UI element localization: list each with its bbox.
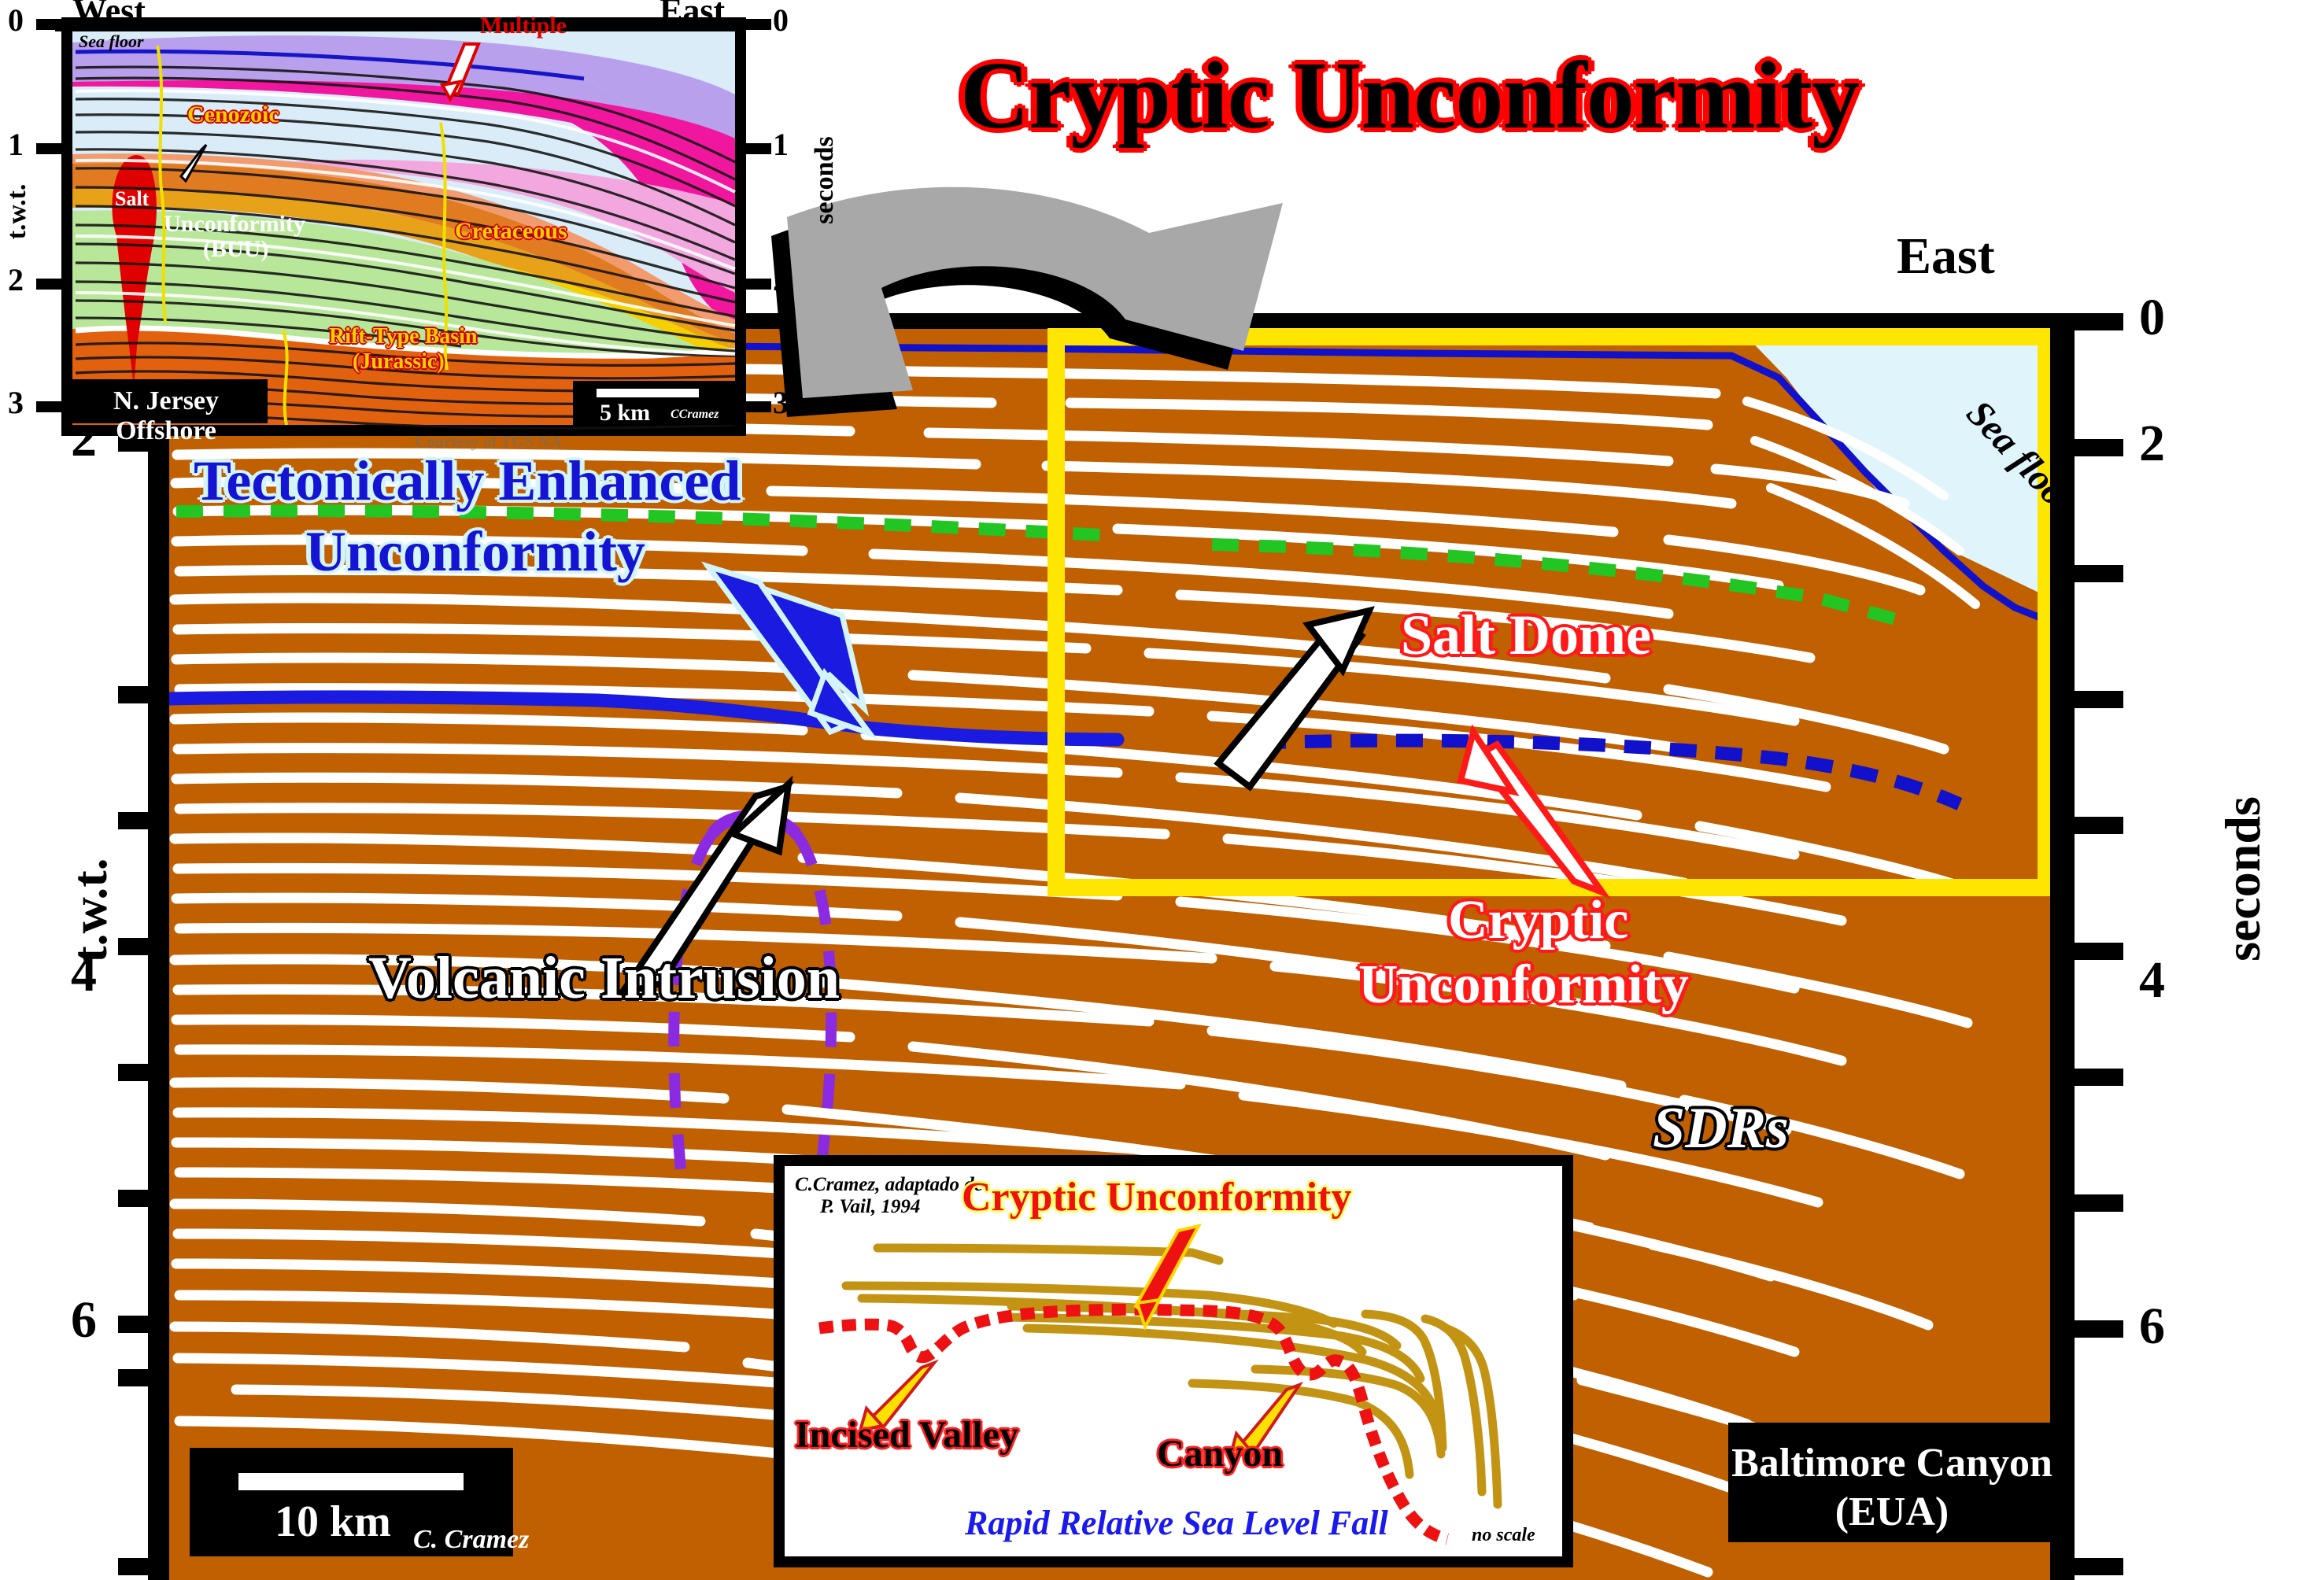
inset-diagram-caption: Rapid Relative Sea Level Fall	[965, 1503, 1388, 1543]
inset-east-label: East	[660, 0, 725, 31]
inset-scale-bar-value: 5 km	[600, 400, 650, 426]
inset-left-tick-1: 1	[8, 126, 24, 163]
inset-left-tick-3: 3	[8, 384, 24, 421]
inset-diagram-scale-note: no scale	[1472, 1525, 1535, 1546]
page-title: Cryptic Unconformity	[960, 41, 1859, 151]
label-cryptic-unconformity-line2: Unconformity	[1358, 954, 1689, 1017]
inset-right-tick-0: 0	[773, 2, 789, 39]
inset-scale-bar: 5 km CCramez	[573, 381, 738, 425]
inset-left-tick-2: 2	[8, 261, 24, 298]
main-right-tick-2: 2	[2139, 414, 2165, 474]
inset-label-rift-basin-line1: Rift-Type Basin	[329, 324, 478, 349]
main-east-label: East	[1897, 227, 1995, 286]
inset-scale-bar-credit: CCramez	[671, 408, 719, 422]
scale-bar-credit: C. Cramez	[413, 1525, 529, 1555]
inset-label-cenozoic: Cenozoic	[187, 102, 279, 128]
inset-diagram-credit-line2: P. Vail, 1994	[820, 1196, 920, 1218]
inset-diagram-title: Cryptic Unconformity	[962, 1174, 1351, 1220]
right-axis-ticks	[2075, 313, 2123, 1575]
main-left-tick-6: 6	[71, 1290, 97, 1350]
inset-scale-bar-line	[597, 389, 699, 397]
inset-right-tick-1: 1	[773, 126, 789, 163]
inset-diagram-label-canyon: Canyon	[1157, 1432, 1283, 1475]
inset-right-axis-label: seconds	[810, 102, 840, 259]
inset-label-multiple: Multiple	[480, 13, 567, 39]
inset-location-box: N. Jersey Offshore	[65, 379, 268, 423]
main-left-tick-4: 4	[71, 944, 97, 1004]
inset-label-sea-floor: Sea floor	[79, 31, 144, 52]
inset-label-unconformity-buu-line2: (BUU)	[203, 236, 268, 263]
main-right-tick-4: 4	[2139, 951, 2165, 1010]
label-salt-dome: Salt Dome	[1401, 603, 1651, 668]
location-line2: (EUA)	[1728, 1489, 2056, 1535]
inset-diagram-credit-line1: C.Cramez, adaptado de	[795, 1174, 983, 1196]
scale-bar-line	[238, 1473, 464, 1490]
inset-label-cretaceous: Cretaceous	[455, 218, 567, 245]
location-line1: Baltimore Canyon	[1728, 1440, 2056, 1486]
label-cryptic-unconformity-line1: Cryptic	[1448, 889, 1628, 952]
main-right-tick-0: 0	[2139, 288, 2165, 348]
figure-root: East t.w.t. 2 4 6 seconds 0 2 4 6 Crypti…	[0, 0, 2324, 1580]
inset-location-text: N. Jersey Offshore	[65, 386, 268, 446]
inset-diagram-label-incised-valley: Incised Valley	[795, 1413, 1018, 1456]
main-right-axis-label: seconds	[2214, 761, 2272, 997]
inset-right-tick-2: 2	[773, 261, 789, 298]
label-sdrs: SDRs	[1653, 1095, 1789, 1162]
main-right-tick-6: 6	[2139, 1297, 2165, 1357]
scale-bar-value: 10 km	[275, 1497, 391, 1547]
main-scale-bar: 10 km C. Cramez	[190, 1448, 513, 1556]
inset-label-unconformity-buu-line1: Unconformity	[164, 211, 305, 238]
inset-right-tick-3: 3	[773, 384, 789, 421]
inset-left-tick-0: 0	[8, 2, 24, 39]
label-tectonically-enhanced-unconformity-line2: Unconformity	[305, 519, 645, 585]
inset-west-label: West	[72, 0, 146, 31]
inset-label-salt: Salt	[115, 187, 149, 211]
inset-label-rift-basin-line2: (Jurassic)	[353, 349, 445, 375]
location-box-baltimore: Baltimore Canyon (EUA)	[1728, 1423, 2056, 1542]
label-volcanic-intrusion: Volcanic Intrusion	[368, 944, 840, 1013]
inset-left-axis-label: t.w.t.	[2, 149, 32, 275]
